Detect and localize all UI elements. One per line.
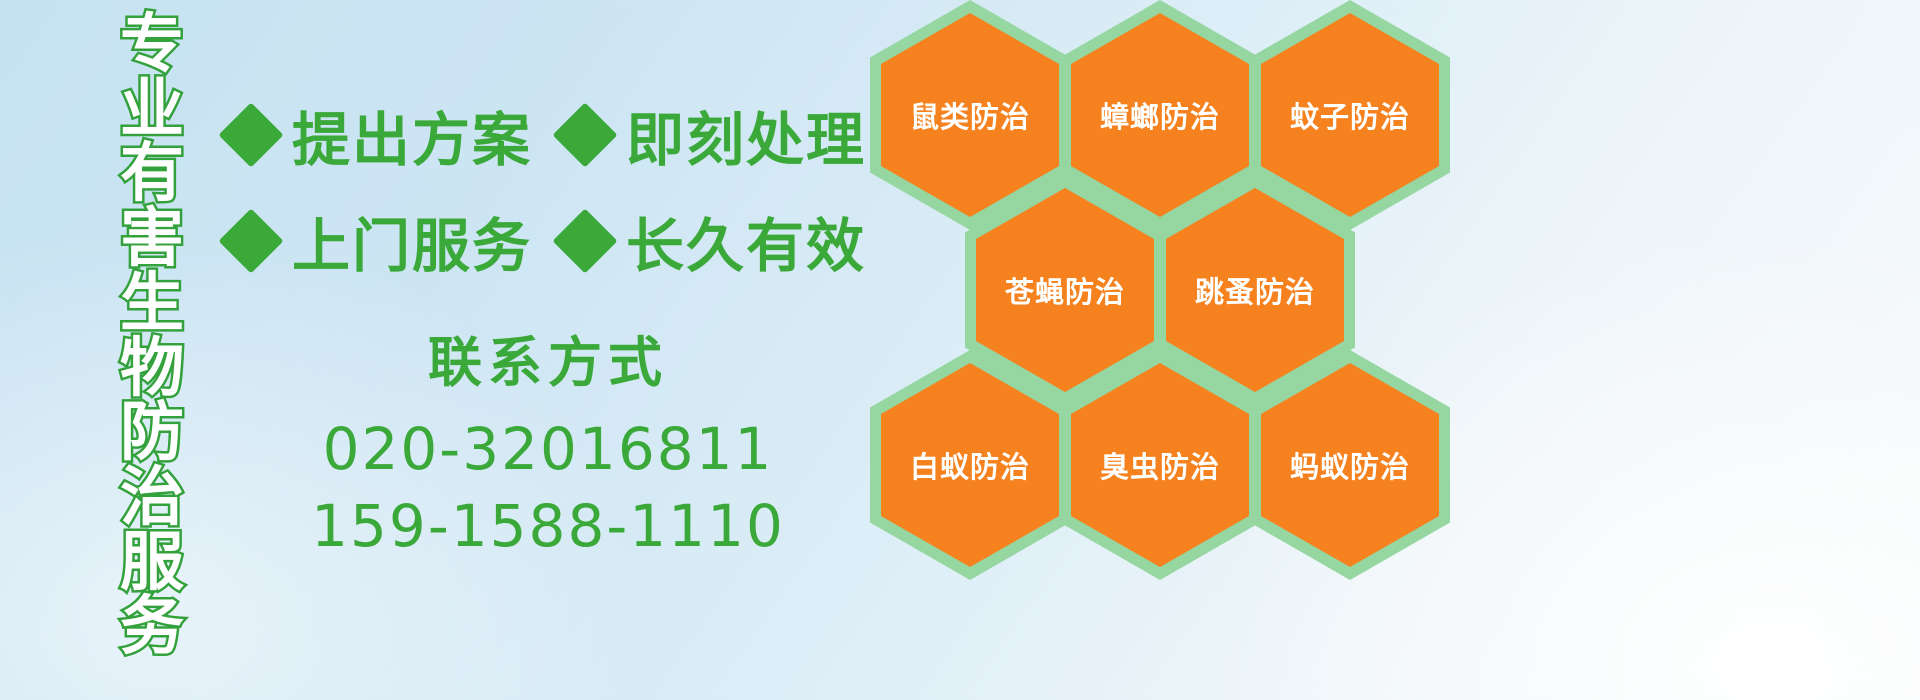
service-hexagon-label: 蚊子防治 — [1290, 94, 1410, 136]
service-hexagon-label: 白蚁防治 — [910, 444, 1030, 486]
feature-item: 长久有效 — [562, 199, 866, 283]
contact-phone[interactable]: 159-1588-1110 — [268, 488, 828, 565]
contact-heading: 联系方式 — [268, 318, 828, 397]
vertical-title-char: 治 — [120, 467, 184, 530]
feature-label: 即刻处理 — [626, 93, 866, 177]
service-hexagon[interactable]: 白蚁防治 — [870, 350, 1070, 580]
vertical-title-char: 防 — [120, 402, 184, 465]
feature-item: 上门服务 — [228, 199, 532, 283]
service-hexagon-label: 蚂蚁防治 — [1290, 444, 1410, 486]
feature-row: 上门服务长久有效 — [228, 188, 868, 294]
diamond-icon — [218, 208, 283, 273]
contact-phone[interactable]: 020-32016811 — [268, 411, 828, 488]
service-hexagon-label: 蟑螂防治 — [1100, 94, 1220, 136]
service-hexagon-label: 苍蝇防治 — [1005, 269, 1125, 311]
service-hexagon-label: 跳蚤防治 — [1195, 269, 1315, 311]
feature-list: 提出方案即刻处理上门服务长久有效 — [228, 82, 868, 294]
feature-item: 提出方案 — [228, 93, 532, 177]
vertical-title-char: 业 — [120, 79, 184, 142]
feature-label: 长久有效 — [626, 199, 866, 283]
service-hexagon[interactable]: 蚂蚁防治 — [1250, 350, 1450, 580]
service-hexagon-label: 鼠类防治 — [910, 94, 1030, 136]
vertical-title-char: 害 — [120, 208, 184, 271]
contact-block: 联系方式 020-32016811159-1588-1110 — [268, 318, 828, 564]
service-hexagon-cluster: 鼠类防治蟑螂防治蚊子防治苍蝇防治跳蚤防治白蚁防治臭虫防治蚂蚁防治 — [858, 0, 1478, 700]
feature-row: 提出方案即刻处理 — [228, 82, 868, 188]
feature-item: 即刻处理 — [562, 93, 866, 177]
vertical-title-char: 物 — [120, 338, 184, 401]
vertical-title-char: 务 — [120, 596, 184, 659]
contact-phone-list: 020-32016811159-1588-1110 — [268, 411, 828, 564]
feature-label: 上门服务 — [292, 199, 532, 283]
vertical-title-char: 生 — [120, 273, 184, 336]
vertical-title-char: 有 — [120, 143, 184, 206]
service-hexagon[interactable]: 臭虫防治 — [1060, 350, 1260, 580]
vertical-banner-title: 专业有害生物防治服务 — [104, 14, 200, 659]
vertical-title-char: 专 — [120, 14, 184, 77]
feature-label: 提出方案 — [292, 93, 532, 177]
vertical-title-char: 服 — [120, 532, 184, 595]
diamond-icon — [552, 102, 617, 167]
banner-stage: 专业有害生物防治服务 提出方案即刻处理上门服务长久有效 联系方式 020-320… — [0, 0, 1920, 700]
diamond-icon — [552, 208, 617, 273]
diamond-icon — [218, 102, 283, 167]
service-hexagon-label: 臭虫防治 — [1100, 444, 1220, 486]
